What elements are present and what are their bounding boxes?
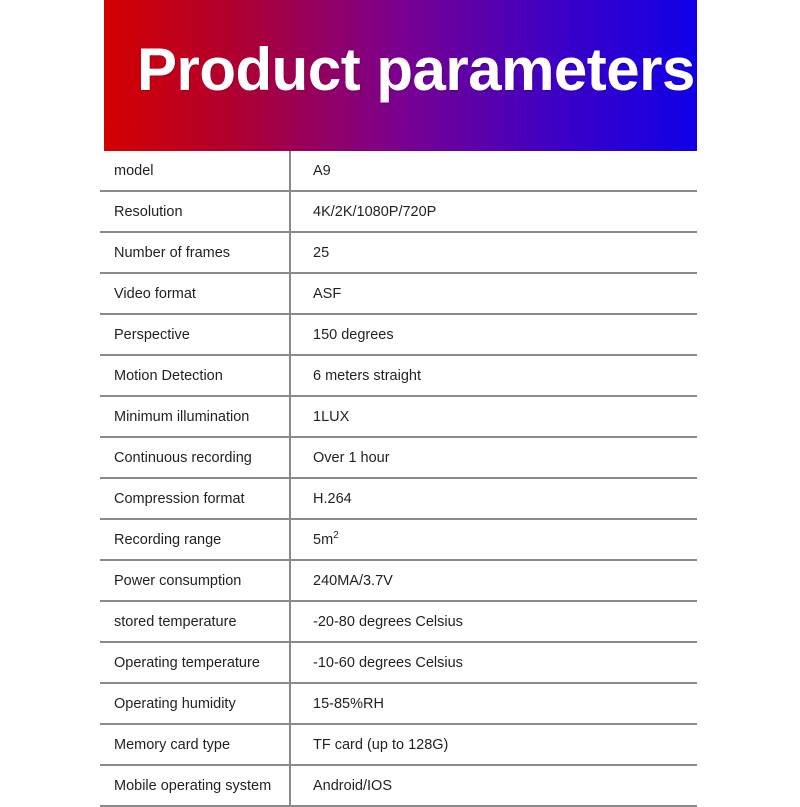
spec-value: H.264 — [290, 478, 697, 519]
spec-value: 150 degrees — [290, 314, 697, 355]
spec-value: Over 1 hour — [290, 437, 697, 478]
spec-value: 25 — [290, 232, 697, 273]
table-row: Operating temperature-10-60 degrees Cels… — [100, 642, 697, 683]
spec-label: model — [100, 151, 290, 191]
table-row: Perspective150 degrees — [100, 314, 697, 355]
spec-value: ASF — [290, 273, 697, 314]
header-banner: Product parameters — [104, 0, 697, 151]
spec-label: Power consumption — [100, 560, 290, 601]
spec-label: Number of frames — [100, 232, 290, 273]
specifications-table-body: modelA9Resolution4K/2K/1080P/720PNumber … — [100, 151, 697, 806]
spec-value: 240MA/3.7V — [290, 560, 697, 601]
specifications-table: modelA9Resolution4K/2K/1080P/720PNumber … — [100, 151, 697, 807]
spec-value: 6 meters straight — [290, 355, 697, 396]
spec-value: TF card (up to 128G) — [290, 724, 697, 765]
table-row: Power consumption240MA/3.7V — [100, 560, 697, 601]
spec-value: -20-80 degrees Celsius — [290, 601, 697, 642]
table-row: Continuous recordingOver 1 hour — [100, 437, 697, 478]
page-title: Product parameters — [137, 33, 697, 107]
table-row: Compression formatH.264 — [100, 478, 697, 519]
spec-label: Perspective — [100, 314, 290, 355]
spec-label: Recording range — [100, 519, 290, 560]
spec-value: 15-85%RH — [290, 683, 697, 724]
table-row: Recording range5m2 — [100, 519, 697, 560]
spec-label: Continuous recording — [100, 437, 290, 478]
spec-value: 4K/2K/1080P/720P — [290, 191, 697, 232]
spec-label: Operating humidity — [100, 683, 290, 724]
table-row: stored temperature-20-80 degrees Celsius — [100, 601, 697, 642]
table-row: modelA9 — [100, 151, 697, 191]
spec-label: Minimum illumination — [100, 396, 290, 437]
spec-label: Motion Detection — [100, 355, 290, 396]
spec-label: Resolution — [100, 191, 290, 232]
spec-value: 5m2 — [290, 519, 697, 560]
spec-label: Memory card type — [100, 724, 290, 765]
table-row: Resolution4K/2K/1080P/720P — [100, 191, 697, 232]
product-parameters-page: Product parameters modelA9Resolution4K/2… — [0, 0, 800, 800]
table-row: Operating humidity15-85%RH — [100, 683, 697, 724]
table-row: Motion Detection6 meters straight — [100, 355, 697, 396]
table-row: Minimum illumination1LUX — [100, 396, 697, 437]
table-row: Memory card typeTF card (up to 128G) — [100, 724, 697, 765]
spec-label: Compression format — [100, 478, 290, 519]
spec-value: A9 — [290, 151, 697, 191]
spec-value: -10-60 degrees Celsius — [290, 642, 697, 683]
table-row: Number of frames25 — [100, 232, 697, 273]
spec-label: Video format — [100, 273, 290, 314]
table-row: Video formatASF — [100, 273, 697, 314]
spec-label: Operating temperature — [100, 642, 290, 683]
spec-label: stored temperature — [100, 601, 290, 642]
spec-value: 1LUX — [290, 396, 697, 437]
superscript-two: 2 — [333, 530, 339, 541]
